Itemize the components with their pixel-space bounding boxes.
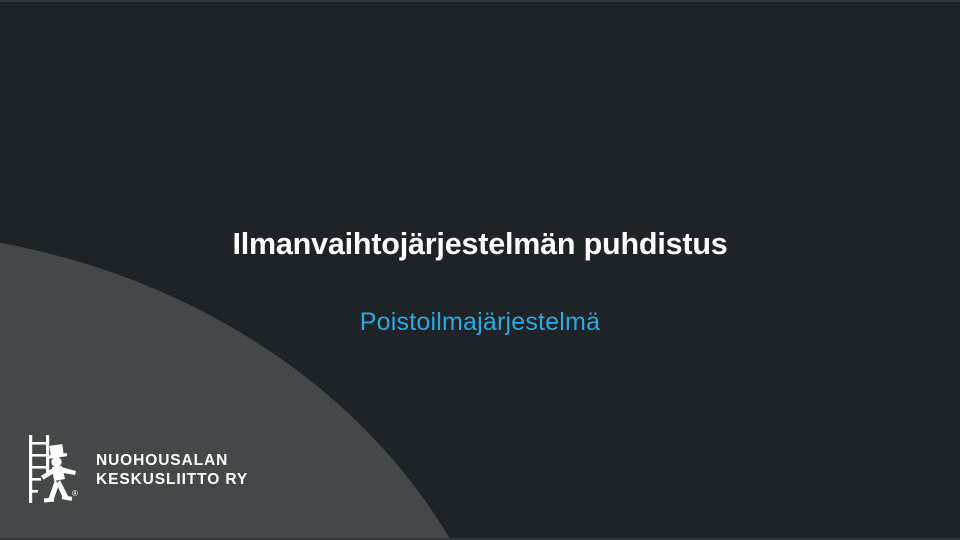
registered-trademark-symbol: ®	[72, 489, 78, 498]
chimney-sweep-with-ladder-icon: ®	[24, 432, 86, 508]
logo-line-1: NUOHOUSALAN	[96, 451, 248, 470]
logo-line-2: KESKUSLIITTO RY	[96, 470, 248, 489]
logo-wordmark: NUOHOUSALAN KESKUSLIITTO RY	[96, 451, 248, 489]
organization-logo: ® NUOHOUSALAN KESKUSLIITTO RY	[24, 432, 248, 508]
slide-subtitle: Poistoilmajärjestelmä	[0, 305, 960, 339]
presentation-slide: Ilmanvaihtojärjestelmän puhdistus Poisto…	[0, 0, 960, 540]
slide-title: Ilmanvaihtojärjestelmän puhdistus	[0, 224, 960, 264]
